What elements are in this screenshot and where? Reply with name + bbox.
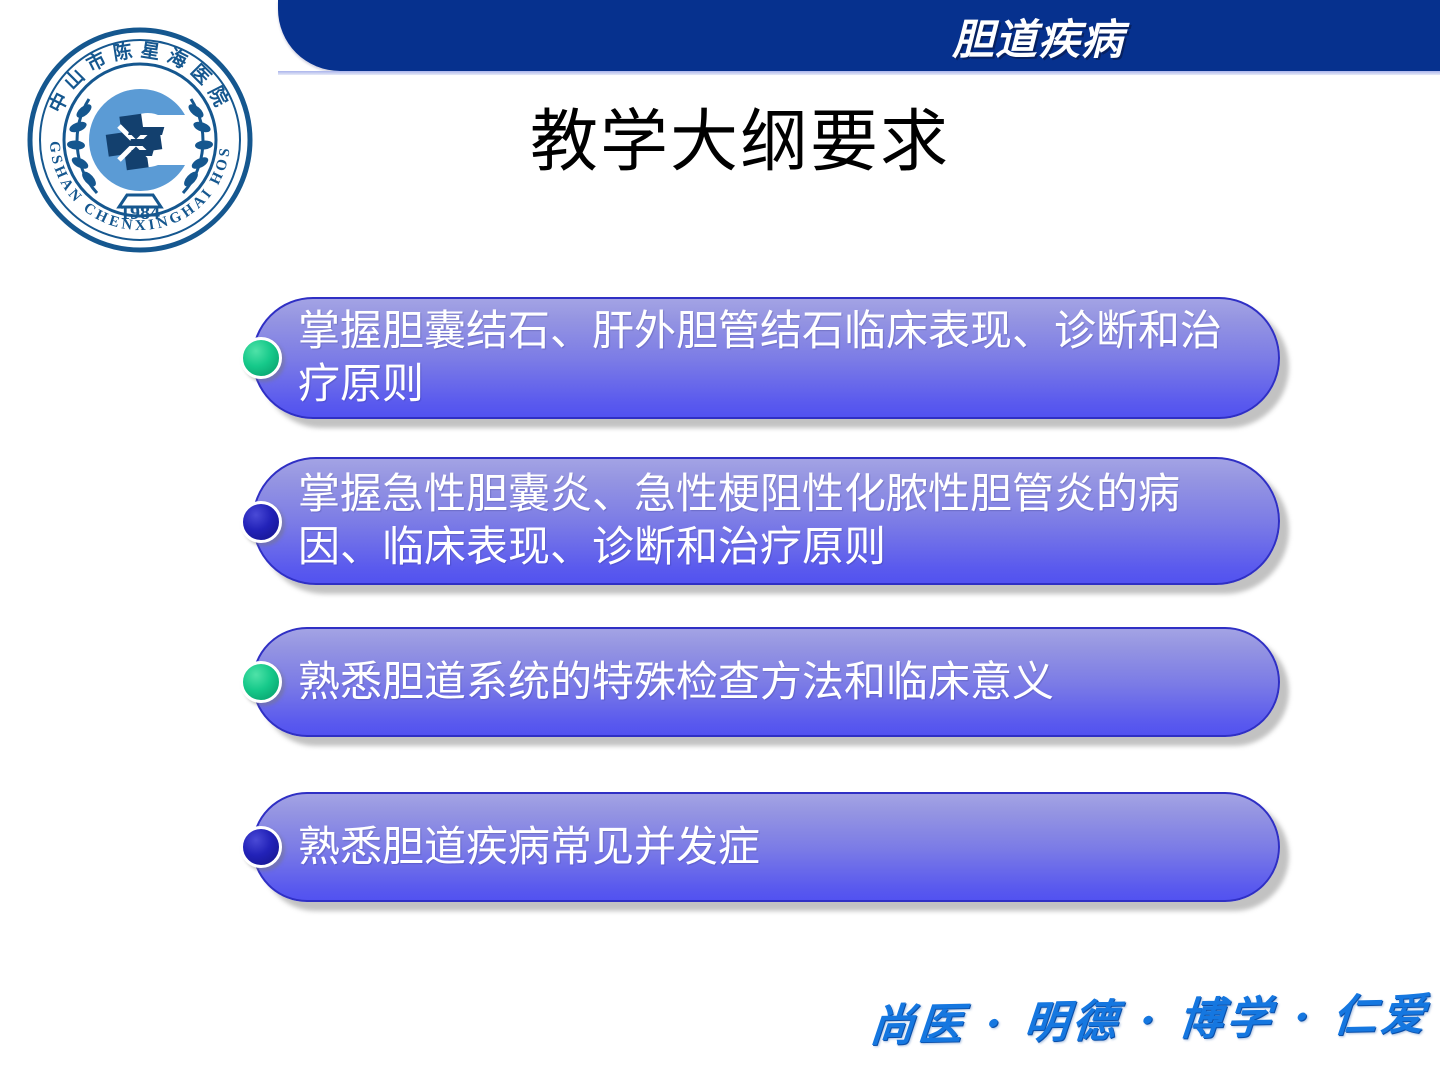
bullet-text: 熟悉胆道疾病常见并发症 [254, 821, 794, 874]
list-item[interactable]: 熟悉胆道系统的特殊检查方法和临床意义 [252, 627, 1280, 737]
bullet-text: 掌握胆囊结石、肝外胆管结石临床表现、诊断和治疗原则 [254, 305, 1278, 411]
bullet-pill[interactable]: 掌握胆囊结石、肝外胆管结石临床表现、诊断和治疗原则 [252, 297, 1280, 419]
bullet-dot-icon [240, 826, 282, 868]
bullet-list: 掌握胆囊结石、肝外胆管结石临床表现、诊断和治疗原则 掌握急性胆囊炎、急性梗阻性化… [0, 0, 1440, 1080]
bullet-dot-icon [240, 337, 282, 379]
bullet-text: 熟悉胆道系统的特殊检查方法和临床意义 [254, 656, 1088, 709]
bullet-text: 掌握急性胆囊炎、急性梗阻性化脓性胆管炎的病因、临床表现、诊断和治疗原则 [254, 468, 1278, 574]
list-item[interactable]: 熟悉胆道疾病常见并发症 [252, 792, 1280, 902]
bullet-dot-icon [240, 501, 282, 543]
list-item[interactable]: 掌握胆囊结石、肝外胆管结石临床表现、诊断和治疗原则 [252, 297, 1280, 419]
bullet-pill[interactable]: 熟悉胆道系统的特殊检查方法和临床意义 [252, 627, 1280, 737]
bullet-pill[interactable]: 掌握急性胆囊炎、急性梗阻性化脓性胆管炎的病因、临床表现、诊断和治疗原则 [252, 457, 1280, 585]
bullet-dot-icon [240, 661, 282, 703]
bullet-pill[interactable]: 熟悉胆道疾病常见并发症 [252, 792, 1280, 902]
footer-motto: 尚医 · 明德 · 博学 · 仁爱 [900, 980, 1400, 1052]
footer-motto-text: 尚医 · 明德 · 博学 · 仁爱 [868, 978, 1432, 1054]
list-item[interactable]: 掌握急性胆囊炎、急性梗阻性化脓性胆管炎的病因、临床表现、诊断和治疗原则 [252, 457, 1280, 585]
